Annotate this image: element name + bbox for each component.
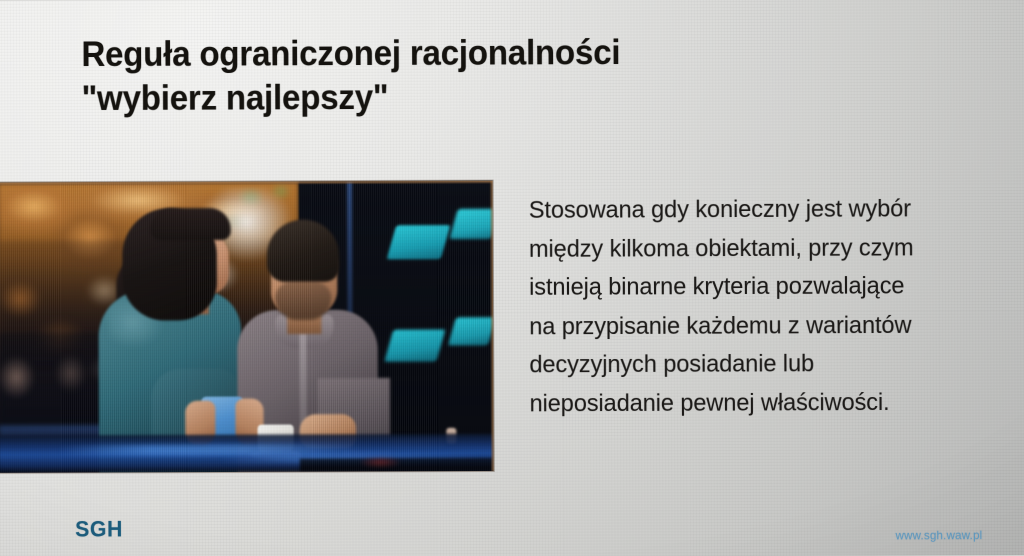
sgh-logo: SGH bbox=[75, 516, 123, 542]
photo-woman-fringe bbox=[150, 208, 230, 240]
slide-body-line-1: Stosowana gdy konieczny jest wybór bbox=[529, 189, 1001, 230]
photo-man-beard bbox=[275, 282, 331, 320]
photo-screen-cyan-panel-2 bbox=[449, 209, 493, 239]
slide-screenshot: Reguła ograniczonej racjonalności "wybie… bbox=[0, 0, 1024, 556]
slide-body-line-3: istnieją binarne kryteria pozwalające bbox=[529, 266, 1001, 307]
slide-body-line-5: decyzyjnych posiadanie lub bbox=[529, 344, 1001, 385]
footer-website-url: www.sgh.waw.pl bbox=[895, 530, 982, 542]
slide-title-line-1: Reguła ograniczonej racjonalności bbox=[81, 30, 742, 77]
slide-body-line-2: między kilkoma obiektami, przy czym bbox=[529, 228, 1001, 269]
photo-screen-cyan-panel-1 bbox=[387, 225, 451, 259]
slide-body-line-4: na przypisanie każdemu z wariantów bbox=[529, 305, 1001, 346]
slide-title: Reguła ograniczonej racjonalności "wybie… bbox=[81, 30, 742, 121]
slide-body-line-6: nieposiadanie pewnej właściwości. bbox=[529, 383, 1001, 424]
slide-title-line-2: "wybierz najlepszy" bbox=[82, 74, 743, 121]
slide-photo bbox=[0, 181, 494, 473]
slide-body-text: Stosowana gdy konieczny jest wybór międz… bbox=[529, 189, 1002, 423]
photo-screen-cyan-panel-3 bbox=[384, 329, 445, 361]
photo-screen-cyan-panel-4 bbox=[448, 317, 494, 345]
photo-desk-red-glow bbox=[352, 456, 408, 468]
